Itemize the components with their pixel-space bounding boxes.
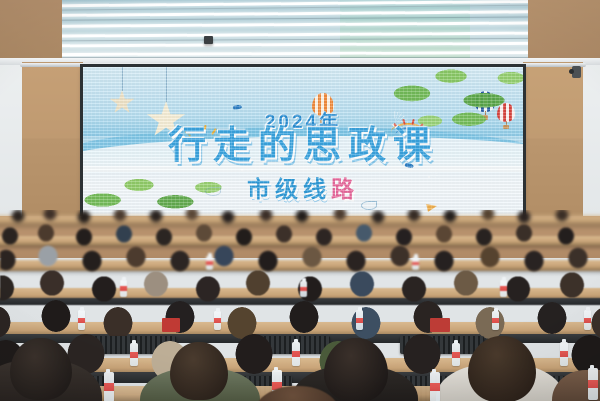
ceiling-projector xyxy=(204,36,213,44)
right-wall-segment xyxy=(581,60,600,235)
ceiling-wood-left xyxy=(0,0,62,62)
ceiling xyxy=(0,0,600,62)
attendee-head xyxy=(10,338,72,400)
ceiling-wood-right xyxy=(528,0,600,62)
attendee-head xyxy=(324,338,388,401)
auditorium-photo: 2024年 行走的思政课 市级线路 xyxy=(0,0,600,401)
wall-camera-icon xyxy=(572,66,581,78)
ceiling-light-strip xyxy=(0,20,600,28)
wall-panel-left xyxy=(22,62,83,230)
attendee-head xyxy=(468,336,536,401)
wall-panel-right xyxy=(523,62,583,230)
attendee-head xyxy=(170,342,228,400)
ceiling-light-strip xyxy=(0,50,600,56)
ceiling-light-strip xyxy=(0,41,600,48)
audience-area xyxy=(0,210,600,401)
led-pixel-grid xyxy=(83,67,523,217)
led-stage-screen: 2024年 行走的思政课 市级线路 xyxy=(83,67,523,217)
left-wall-segment xyxy=(0,60,24,235)
